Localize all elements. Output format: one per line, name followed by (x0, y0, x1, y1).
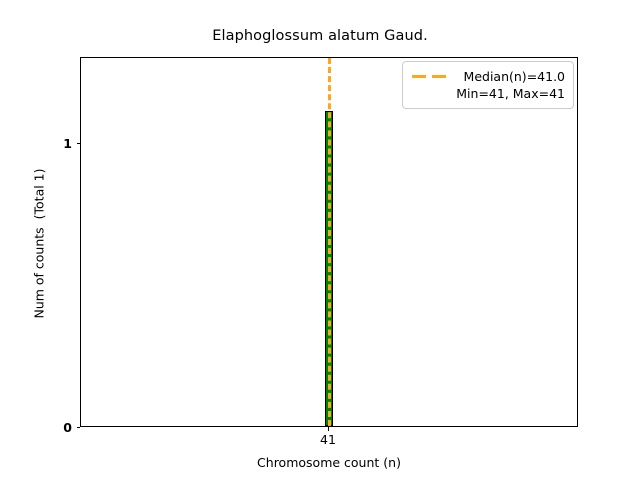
ytick-label-0: 0 (56, 420, 72, 435)
ytick-mark-0 (77, 427, 81, 428)
legend-entry-median: Median(n)=41.0 Min=41, Max=41 (411, 68, 565, 102)
plot-area (80, 57, 578, 427)
legend: Median(n)=41.0 Min=41, Max=41 (402, 61, 574, 109)
xtick-label-0: 41 (308, 432, 348, 447)
median-line (328, 58, 331, 426)
chart-figure: Elaphoglossum alatum Gaud. 0 1 41 Chromo… (0, 0, 640, 480)
legend-label-median: Median(n)=41.0 (455, 68, 565, 85)
xtick-mark-0 (328, 427, 329, 431)
median-dashed-line-icon (411, 68, 447, 85)
chart-title: Elaphoglossum alatum Gaud. (0, 28, 640, 44)
legend-label-minmax: Min=41, Max=41 (455, 85, 565, 102)
ytick-mark-1 (77, 143, 81, 144)
legend-entry-text: Median(n)=41.0 Min=41, Max=41 (455, 68, 565, 102)
ytick-label-1: 1 (56, 136, 72, 151)
x-axis-label: Chromosome count (n) (80, 455, 578, 470)
y-axis-label: Num of counts (Total 1) (32, 59, 47, 429)
